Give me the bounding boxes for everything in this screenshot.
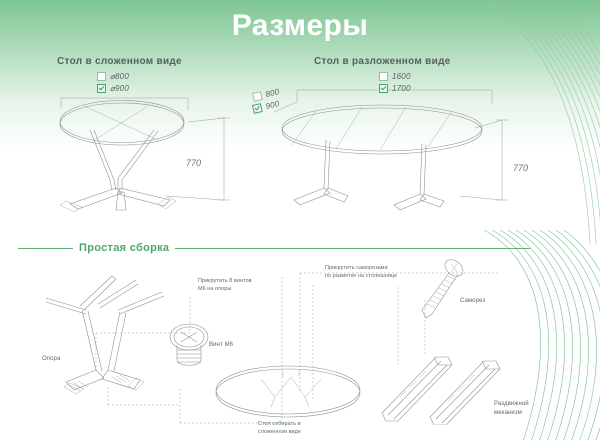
- page-title: Размеры: [0, 6, 600, 46]
- bolt-m6-drawing: [168, 320, 212, 380]
- checkbox-folded-900[interactable]: [97, 84, 106, 93]
- checkbox-unfolded-1600[interactable]: [379, 72, 388, 81]
- option-unfolded-1600[interactable]: 1600: [379, 72, 411, 81]
- option-unfolded-1700[interactable]: 1700: [379, 84, 411, 93]
- part-label-bolt: Винт М6: [209, 341, 233, 350]
- option-label: 1700: [392, 84, 411, 93]
- infographic-page: Размеры Стол в сложенном виде ⌀800 ⌀900 …: [0, 0, 600, 440]
- heading-rule-right: [175, 248, 530, 249]
- part-label-slide-mechanism: Раздвижной механизм: [494, 400, 529, 417]
- heading-rule-left: [18, 248, 73, 249]
- checkbox-unfolded-1700[interactable]: [379, 84, 388, 93]
- unfolded-table-drawing: [270, 84, 520, 214]
- folded-table-drawing: [48, 92, 238, 212]
- assembly-note-bolts: Прикрутить 8 винтов М6 на опоры: [198, 277, 252, 293]
- option-folded-800[interactable]: ⌀800: [97, 72, 129, 81]
- assembly-heading-label: Простая сборка: [79, 242, 169, 254]
- screw-drawing: [410, 258, 470, 328]
- option-folded-900[interactable]: ⌀900: [97, 84, 129, 93]
- section-heading-folded: Стол в сложенном виде: [57, 56, 182, 67]
- dimension-unfolded-height: 770: [513, 163, 528, 173]
- assembly-note-folded: Стол собирать в сложенном виде: [258, 420, 301, 436]
- option-label: ⌀800: [110, 72, 129, 81]
- assembly-section-heading: Простая сборка: [0, 238, 600, 258]
- section-heading-unfolded: Стол в разложенном виде: [314, 56, 451, 67]
- support-drawing: [30, 270, 190, 395]
- option-label: ⌀900: [110, 84, 129, 93]
- dimension-folded-height: 770: [186, 158, 201, 168]
- assembly-note-screws: Прикрутить саморезами по разметке на сто…: [325, 264, 397, 280]
- part-label-support: Опора: [42, 355, 60, 364]
- checkbox-folded-800[interactable]: [97, 72, 106, 81]
- option-label: 1600: [392, 72, 411, 81]
- part-label-screw: Саморез: [460, 297, 485, 306]
